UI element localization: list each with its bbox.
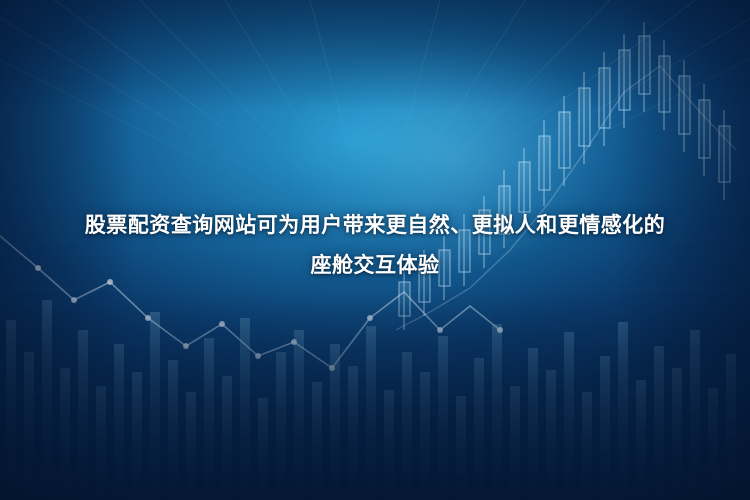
caption-overlay: 股票配资查询网站可为用户带来更自然、更拟人和更情感化的 座舱交互体验 [0, 206, 750, 286]
caption-line-2: 座舱交互体验 [26, 246, 724, 286]
background-image: 股票配资查询网站可为用户带来更自然、更拟人和更情感化的 座舱交互体验 [0, 0, 750, 500]
caption-line-1: 股票配资查询网站可为用户带来更自然、更拟人和更情感化的 [26, 206, 724, 246]
